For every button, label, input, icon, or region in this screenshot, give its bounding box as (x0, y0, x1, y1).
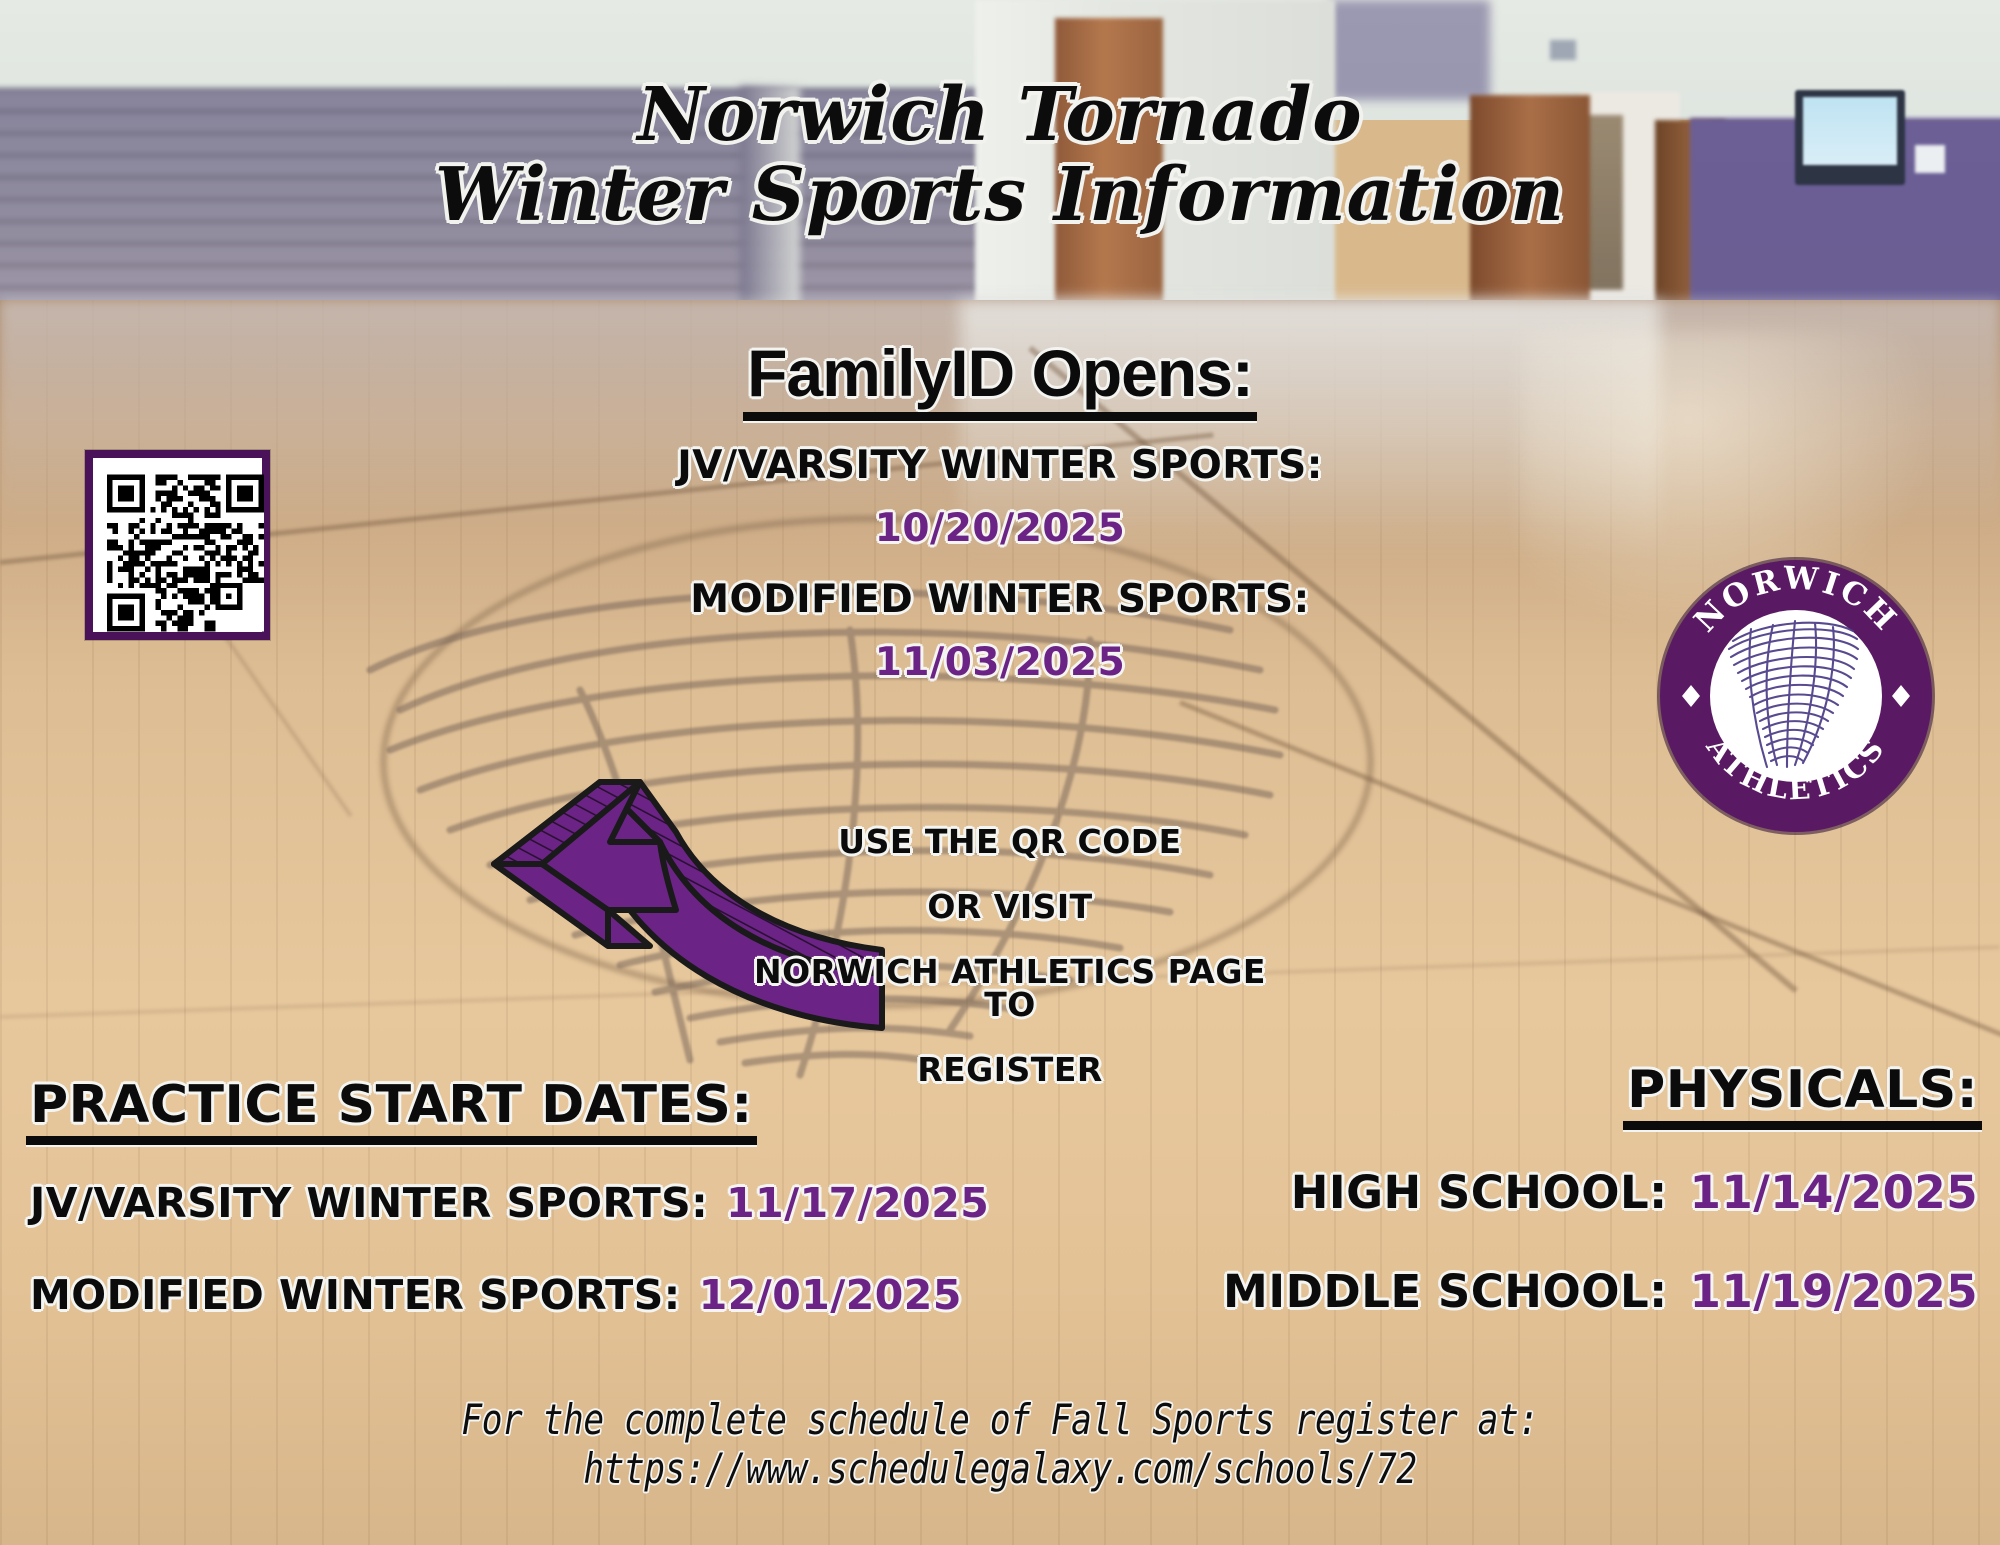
poster-title: Norwich Tornado Winter Sports Informatio… (0, 78, 2000, 239)
qr-code-modules (107, 472, 264, 634)
familyid-row-0-date: 10/20/2025 (0, 506, 2000, 551)
physicals-row-1-date: 11/19/2025 (1690, 1265, 1978, 1318)
familyid-heading-wrap: FamilyID Opens: (0, 335, 2000, 411)
qr-instructions: USE THE QR CODE OR VISIT NORWICH ATHLETI… (730, 825, 1290, 1086)
familyid-row-0-label: JV/VARSITY WINTER SPORTS: (0, 443, 2000, 488)
footer: For the complete schedule of Fall Sports… (0, 1395, 2000, 1493)
physicals-section: PHYSICALS: HIGH SCHOOL:11/14/2025 MIDDLE… (1223, 1060, 1978, 1318)
practice-title-wrap: PRACTICE START DATES: (30, 1075, 989, 1135)
practice-start-dates-section: PRACTICE START DATES: JV/VARSITY WINTER … (30, 1075, 989, 1319)
footer-schedule-url-text: For the complete schedule of Fall Sports… (180, 1395, 1820, 1493)
practice-row-1-label: MODIFIED WINTER SPORTS: (30, 1271, 681, 1319)
qr-instruction-line-2: NORWICH ATHLETICS PAGE TO (730, 955, 1290, 1021)
physicals-row-1: MIDDLE SCHOOL:11/19/2025 (1223, 1265, 1978, 1318)
title-line-2: Winter Sports Information (0, 152, 2000, 239)
qr-code-quiet-zone (93, 458, 262, 632)
qr-code[interactable] (85, 450, 270, 640)
practice-row-0-date: 11/17/2025 (726, 1179, 989, 1227)
practice-row-1: MODIFIED WINTER SPORTS:12/01/2025 (30, 1271, 989, 1319)
norwich-athletics-logo: NORWICH ATHLETICS (1655, 555, 1937, 837)
physicals-row-0-label: HIGH SCHOOL: (1291, 1166, 1668, 1219)
qr-instruction-line-1: OR VISIT (730, 890, 1290, 923)
qr-instruction-line-0: USE THE QR CODE (730, 825, 1290, 858)
practice-row-1-date: 12/01/2025 (699, 1271, 962, 1319)
title-line-1: Norwich Tornado (0, 78, 2000, 152)
practice-row-0-label: JV/VARSITY WINTER SPORTS: (30, 1179, 708, 1227)
practice-row-0: JV/VARSITY WINTER SPORTS:11/17/2025 (30, 1179, 989, 1227)
physicals-row-1-label: MIDDLE SCHOOL: (1223, 1265, 1668, 1318)
physicals-row-0: HIGH SCHOOL:11/14/2025 (1223, 1166, 1978, 1219)
physicals-title-wrap: PHYSICALS: (1223, 1060, 1978, 1120)
gym-exit-sign (1550, 40, 1576, 60)
physicals-row-0-date: 11/14/2025 (1690, 1166, 1978, 1219)
practice-title: PRACTICE START DATES: (30, 1075, 753, 1135)
familyid-heading: FamilyID Opens: (747, 335, 1253, 411)
winter-sports-information-poster: Norwich Tornado Winter Sports Informatio… (0, 0, 2000, 1545)
physicals-title: PHYSICALS: (1627, 1060, 1978, 1120)
